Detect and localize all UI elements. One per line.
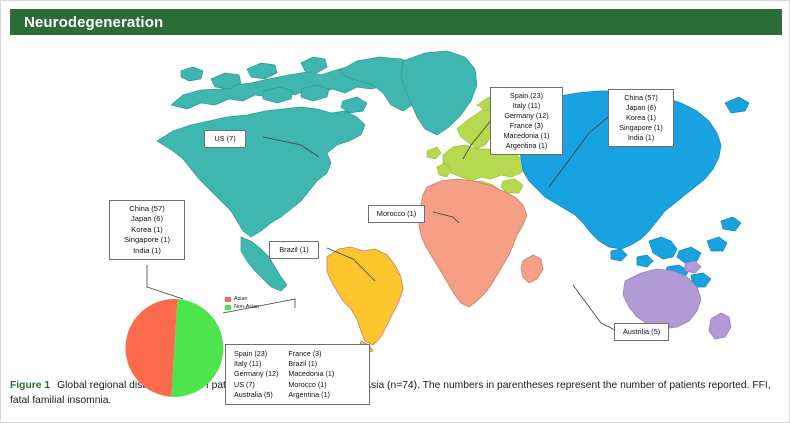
- page-title: Neurodegeneration: [24, 14, 163, 31]
- pie-legend: Asian Non-Asian: [225, 295, 259, 312]
- callout-label: US (7): [214, 134, 235, 143]
- pie-chart: [122, 297, 227, 399]
- callout-us: US (7): [204, 130, 246, 148]
- callout-line: France (3): [496, 121, 557, 131]
- callout-line: China (57): [115, 204, 179, 214]
- legend-label-asian: Asian: [234, 295, 248, 303]
- pie-slice-asian: [125, 299, 177, 397]
- legend-item-asian: Asian: [225, 295, 259, 303]
- section-header-bar: Neurodegeneration: [10, 9, 782, 35]
- callout-asia-top: China (57) Japan (6) Korea (1) Singapore…: [608, 89, 674, 147]
- nonasian-entry: Spain (23): [234, 349, 278, 359]
- callout-label: Brazil (1): [279, 245, 309, 254]
- nonasian-entry: Morocco (1): [288, 380, 334, 390]
- legend-swatch-asian: [225, 297, 231, 302]
- callout-label: Morocco (1): [377, 209, 416, 218]
- callout-line: Germany (12): [496, 111, 557, 121]
- nonasian-entry: US (7): [234, 380, 278, 390]
- nonasian-entry: Brazil (1): [288, 359, 334, 369]
- callout-line: Singapore (1): [614, 123, 668, 133]
- callout-nonasian-country-list: Spain (23) Italy (11) Germany (12) US (7…: [225, 344, 370, 405]
- figure-panel: Asian Non-Asian Spain (23) Italy (11) Ge…: [1, 37, 790, 373]
- legend-item-non-asian: Non-Asian: [225, 303, 259, 311]
- callout-line: India (1): [614, 133, 668, 143]
- nonasian-entry: Argentina (1): [288, 390, 334, 400]
- legend-swatch-non-asian: [225, 305, 231, 310]
- map-region-south-america: [327, 247, 403, 353]
- callout-line: Macedonia (1): [496, 131, 557, 141]
- callout-australia: Austrilia (5): [614, 323, 669, 341]
- nonasian-entry: Italy (11): [234, 359, 278, 369]
- callout-brazil: Brazil (1): [269, 241, 319, 259]
- callout-line: Argentina (1): [496, 141, 557, 151]
- map-region-africa: [419, 179, 543, 307]
- legend-label-non-asian: Non-Asian: [234, 303, 259, 311]
- nonasian-column-left: Spain (23) Italy (11) Germany (12) US (7…: [234, 349, 278, 400]
- figure-caption-label: Figure 1: [10, 380, 50, 391]
- nonasian-entry: France (3): [288, 349, 334, 359]
- callout-line: Japan (6): [115, 214, 179, 224]
- callout-line: India (1): [115, 246, 179, 256]
- nonasian-entry: Macedonia (1): [288, 369, 334, 379]
- callout-line: Korea (1): [614, 113, 668, 123]
- callout-line: Japan (6): [614, 103, 668, 113]
- callout-line: Singapore (1): [115, 235, 179, 245]
- callout-line: Spain (23): [496, 91, 557, 101]
- pie-slice-non-asian: [171, 299, 223, 397]
- callout-line: Korea (1): [115, 225, 179, 235]
- callout-asia-left: China (57) Japan (6) Korea (1) Singapore…: [109, 200, 185, 260]
- callout-line: Italy (11): [496, 101, 557, 111]
- callout-label: Austrilia (5): [623, 327, 660, 336]
- nonasian-entry: Germany (12): [234, 369, 278, 379]
- callout-europe-top: Spain (23) Italy (11) Germany (12) Franc…: [490, 87, 563, 155]
- callout-morocco: Morocco (1): [368, 205, 425, 223]
- nonasian-column-right: France (3) Brazil (1) Macedonia (1) Moro…: [288, 349, 334, 400]
- callout-line: China (57): [614, 93, 668, 103]
- nonasian-entry: Australia (5): [234, 390, 278, 400]
